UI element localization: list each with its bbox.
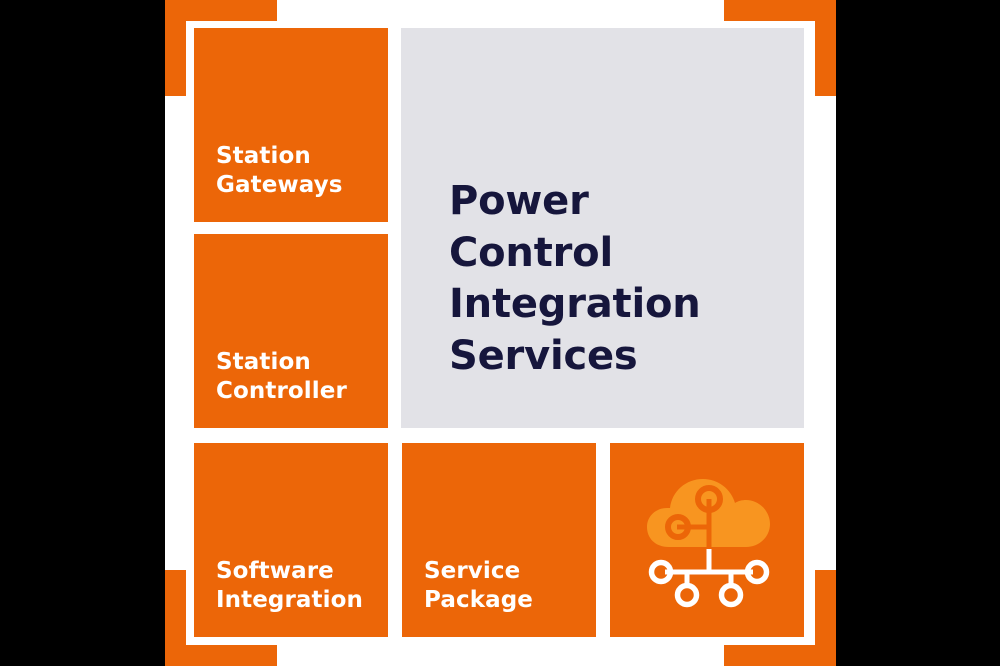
tile-label-service-package: Service Package (424, 557, 533, 615)
tile-service-package[interactable]: Service Package (402, 443, 596, 637)
network-stem (707, 549, 712, 572)
bracket-arm-vertical (815, 0, 836, 96)
bracket-arm-vertical (165, 570, 186, 666)
diagram-canvas: Station Gateways Station Controller Powe… (0, 0, 1000, 666)
network-node-lower-right (722, 586, 741, 605)
bracket-arm-vertical (165, 0, 186, 96)
network-node-lower-left (678, 586, 697, 605)
tile-label-software-integration: Software Integration (216, 557, 363, 615)
tile-station-controller[interactable]: Station Controller (194, 234, 388, 428)
tile-cloud-network[interactable] (610, 443, 804, 637)
tile-station-gateways[interactable]: Station Gateways (194, 28, 388, 222)
tile-label-station-gateways: Station Gateways (216, 142, 343, 200)
main-panel-power-control-integration-services: Power Control Integration Services (401, 28, 804, 428)
bracket-arm-vertical (815, 570, 836, 666)
cloud-network-icon (639, 469, 779, 609)
tile-software-integration[interactable]: Software Integration (194, 443, 388, 637)
tile-label-station-controller: Station Controller (216, 348, 347, 406)
cloud-trace-horizontal (677, 525, 711, 530)
network-bus (665, 570, 753, 575)
page-title: Power Control Integration Services (449, 176, 701, 382)
